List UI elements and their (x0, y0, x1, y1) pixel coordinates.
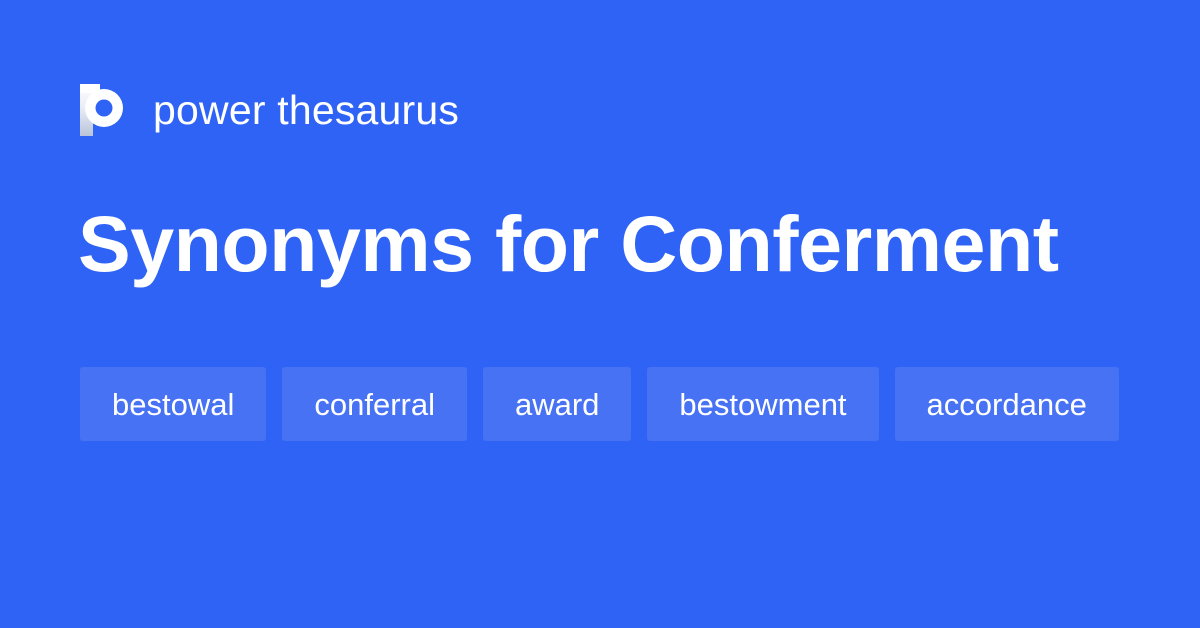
brand-name: power thesaurus (153, 90, 459, 131)
synonym-chip[interactable]: accordance (895, 367, 1119, 441)
power-thesaurus-b-logo-icon (80, 84, 127, 136)
share-card: power thesaurus Synonyms for Conferment … (0, 0, 1200, 628)
brand-lockup[interactable]: power thesaurus (80, 82, 459, 138)
synonym-chip-list: bestowal conferral award bestowment acco… (80, 367, 1140, 441)
synonym-chip[interactable]: award (483, 367, 631, 441)
synonym-chip[interactable]: conferral (282, 367, 467, 441)
page-title: Synonyms for Conferment (78, 196, 1059, 292)
synonym-chip[interactable]: bestowal (80, 367, 266, 441)
synonym-chip[interactable]: bestowment (647, 367, 878, 441)
